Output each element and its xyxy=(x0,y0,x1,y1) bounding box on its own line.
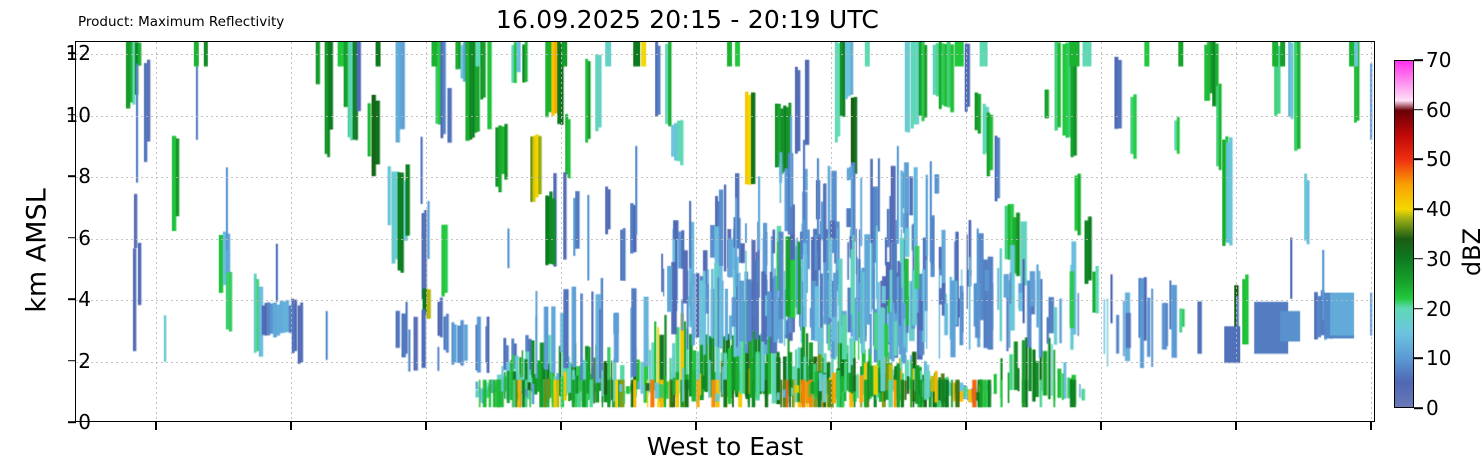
y-tick-mark xyxy=(68,298,76,300)
colorbar-tick-label: 60 xyxy=(1426,98,1451,122)
page-title: 16.09.2025 20:15 - 20:19 UTC xyxy=(0,5,1375,34)
colorbar-gradient xyxy=(1394,60,1414,408)
y-tick-label: 2 xyxy=(78,349,91,373)
y-tick-label: 10 xyxy=(66,103,91,127)
x-axis-label: West to East xyxy=(75,432,1375,461)
x-tick-mark xyxy=(1235,422,1237,430)
colorbar-tick-mark xyxy=(1414,357,1423,359)
colorbar-tick-mark xyxy=(1414,59,1423,61)
colorbar-tick-mark xyxy=(1414,208,1423,210)
y-tick-mark xyxy=(68,360,76,362)
colorbar-tick-label: 30 xyxy=(1426,247,1451,271)
colorbar-tick-mark xyxy=(1414,258,1423,260)
y-tick-label: 12 xyxy=(66,41,91,65)
x-tick-mark xyxy=(155,422,157,430)
y-tick-label: 6 xyxy=(78,226,91,250)
x-tick-mark xyxy=(1100,422,1102,430)
x-tick-mark xyxy=(1370,422,1372,430)
x-tick-mark xyxy=(290,422,292,430)
x-tick-mark xyxy=(965,422,967,430)
colorbar-tick-label: 20 xyxy=(1426,297,1451,321)
y-tick-label: 8 xyxy=(78,164,91,188)
radar-cross-section-figure: Product: Maximum Reflectivity 16.09.2025… xyxy=(0,0,1482,470)
colorbar-tick-mark xyxy=(1414,109,1423,111)
colorbar-tick-label: 10 xyxy=(1426,346,1451,370)
colorbar-label: dBZ xyxy=(1458,192,1482,312)
reflectivity-heatmap-canvas xyxy=(76,42,1374,421)
y-tick-mark xyxy=(68,237,76,239)
plot-area xyxy=(75,41,1375,422)
colorbar-tick-label: 40 xyxy=(1426,197,1451,221)
y-tick-mark xyxy=(68,421,76,423)
y-tick-mark xyxy=(68,175,76,177)
colorbar-tick-label: 0 xyxy=(1426,396,1439,420)
y-tick-label: 4 xyxy=(78,287,91,311)
colorbar-tick-mark xyxy=(1414,159,1423,161)
colorbar-tick-mark xyxy=(1414,407,1423,409)
colorbar-tick-label: 50 xyxy=(1426,147,1451,171)
y-axis-label: km AMSL xyxy=(22,176,53,326)
colorbar-tick-mark xyxy=(1414,308,1423,310)
x-tick-mark xyxy=(425,422,427,430)
x-tick-mark xyxy=(560,422,562,430)
x-tick-mark xyxy=(695,422,697,430)
x-tick-mark xyxy=(830,422,832,430)
y-tick-label: 0 xyxy=(78,410,91,434)
colorbar xyxy=(1394,60,1414,408)
colorbar-tick-label: 70 xyxy=(1426,48,1451,72)
